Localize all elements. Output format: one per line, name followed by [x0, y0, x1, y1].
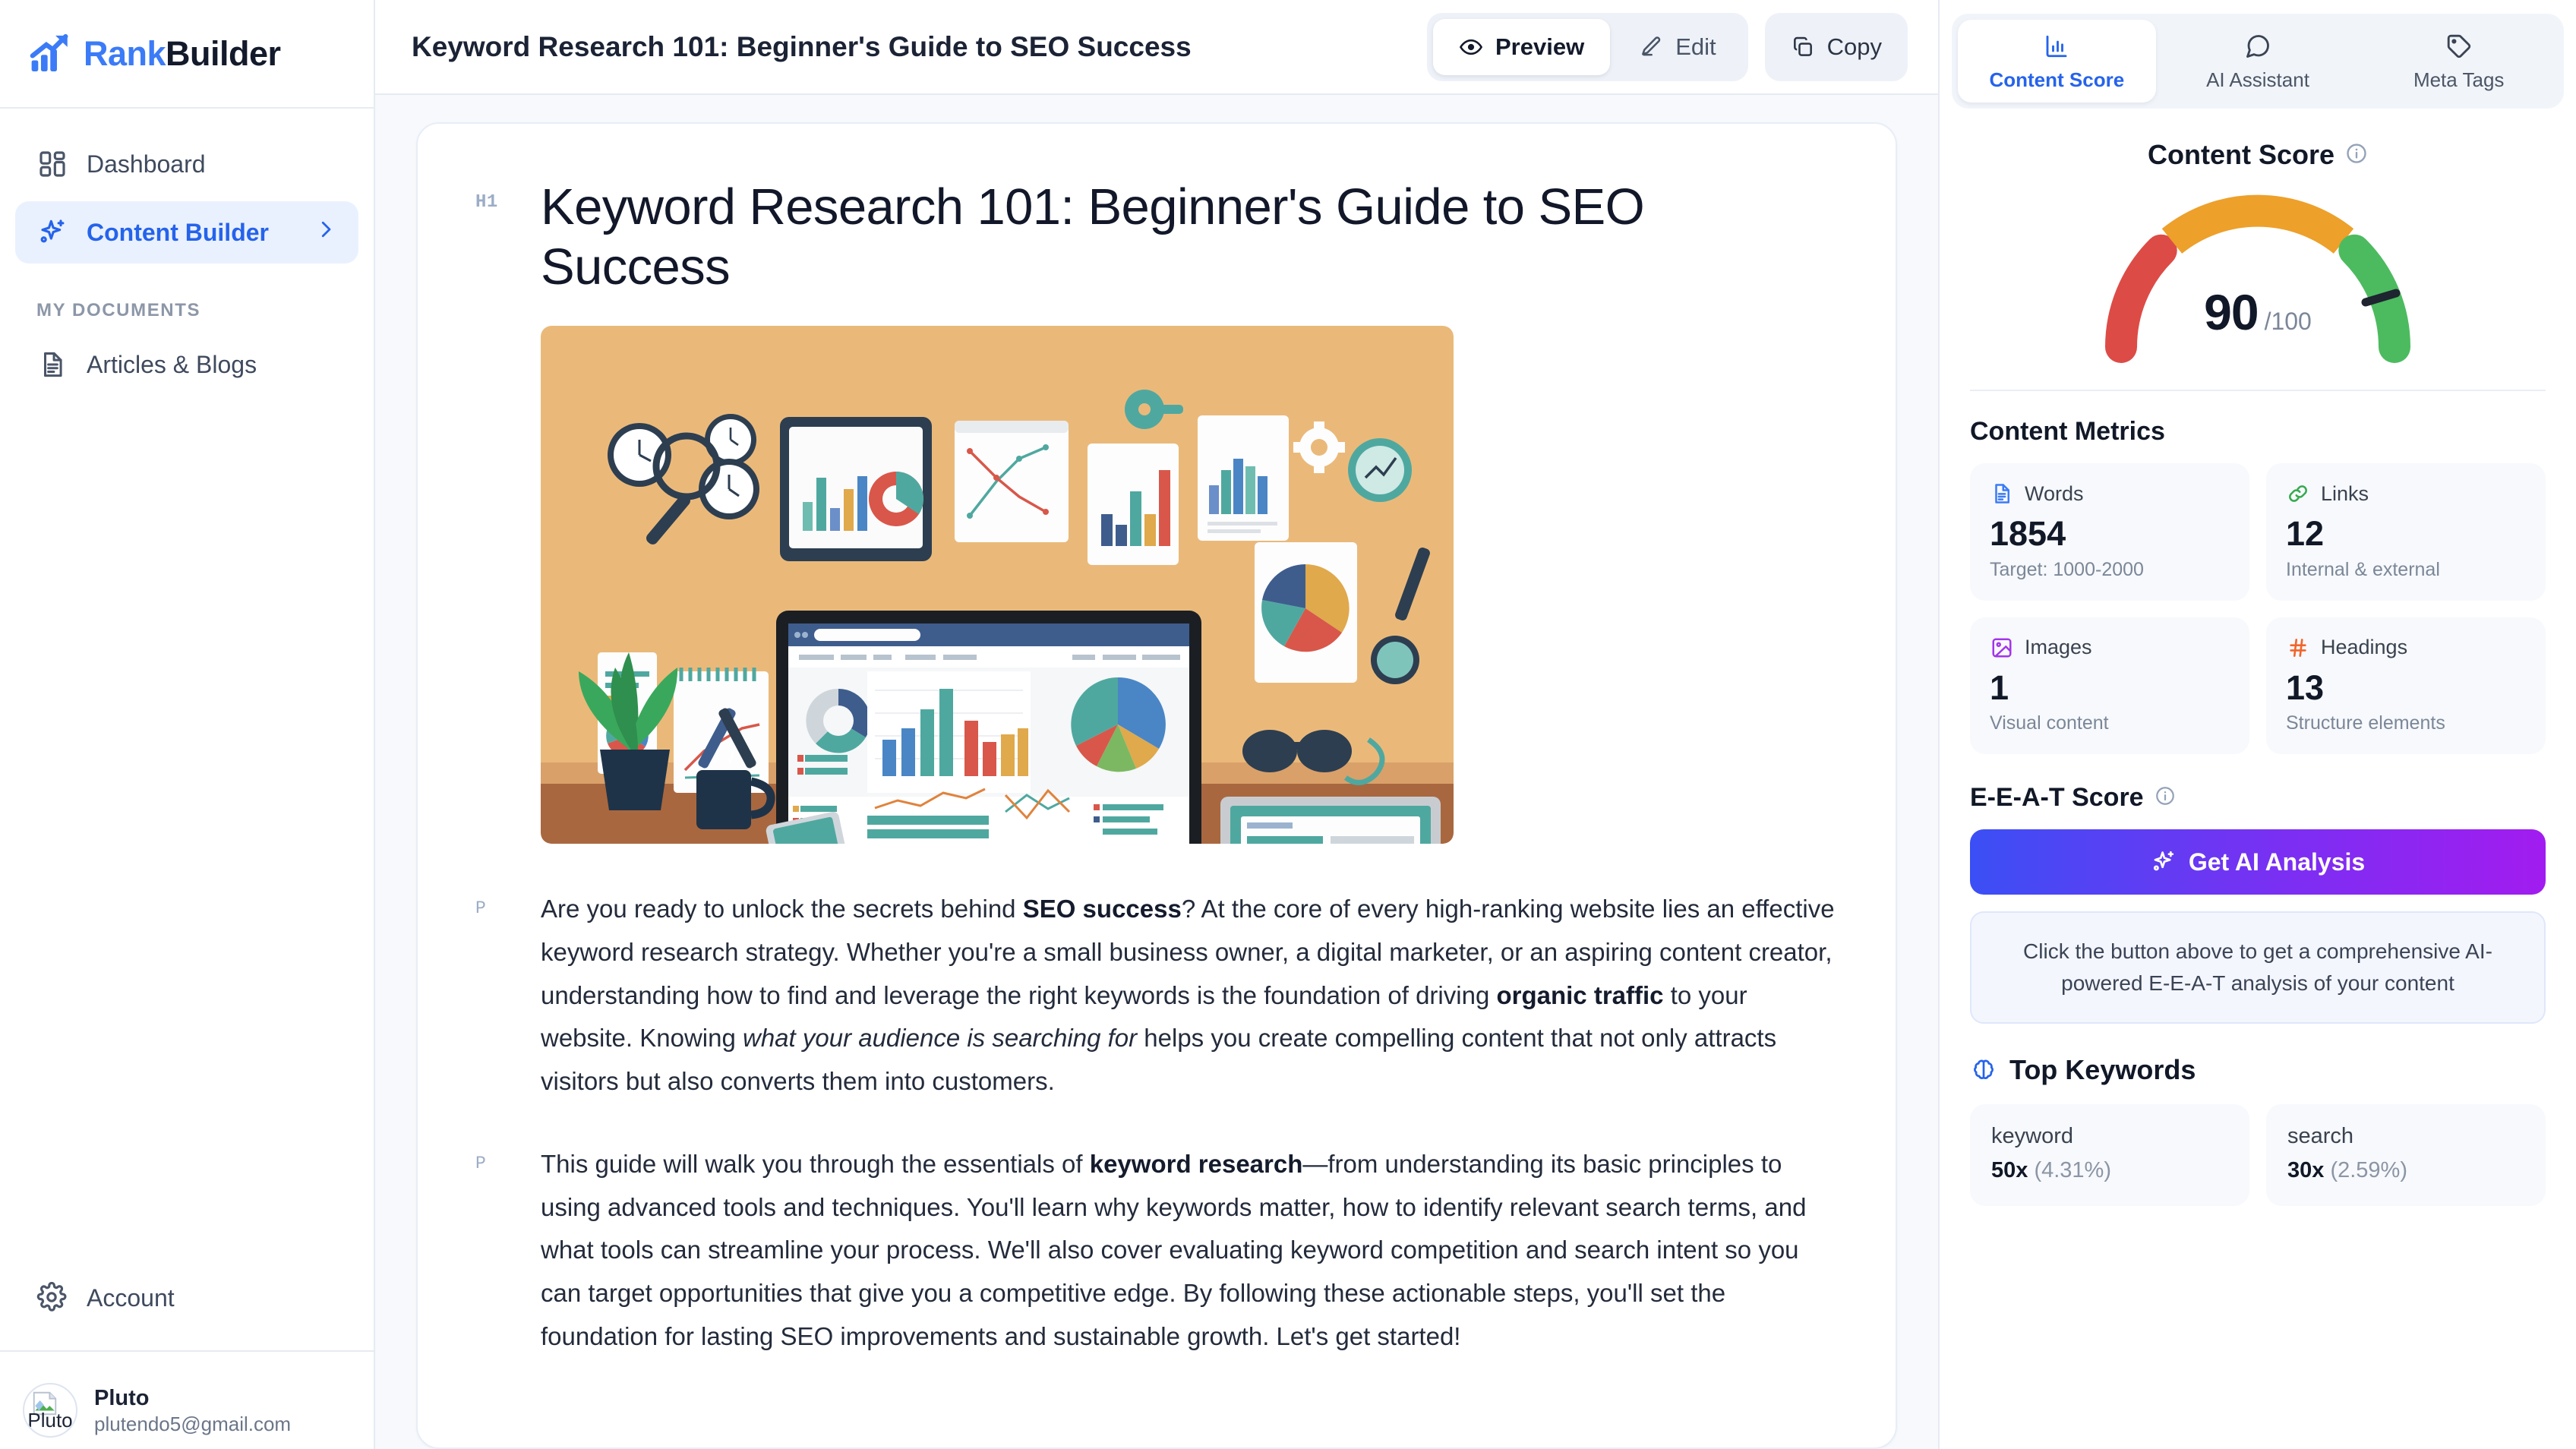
hero-illustration: [541, 326, 1454, 844]
tab-label: Content Score: [1989, 68, 2124, 92]
tag-icon: [2445, 32, 2473, 61]
metric-card-words: Words 1854 Target: 1000-2000: [1970, 463, 2249, 601]
sidebar-item-label: Account: [87, 1284, 175, 1312]
brand-name: RankBuilder: [84, 34, 281, 74]
copy-icon: [1791, 35, 1815, 59]
toolbar-actions: Preview Edit: [1427, 13, 1908, 81]
content-score-title: Content Score: [2148, 139, 2334, 171]
tab-content-score[interactable]: Content Score: [1958, 20, 2156, 103]
eye-icon: [1459, 35, 1483, 59]
block-image[interactable]: [541, 326, 1838, 844]
analysis-panel: Content Score AI Assistant Meta Tags: [1938, 0, 2576, 1449]
hash-icon: [2286, 636, 2310, 660]
copy-button-label: Copy: [1827, 33, 1882, 61]
metric-value: 12: [2286, 515, 2526, 553]
block-heading[interactable]: H1 Keyword Research 101: Beginner's Guid…: [475, 177, 1838, 883]
keyword-count: 30x: [2287, 1158, 2324, 1182]
pencil-icon: [1639, 35, 1663, 59]
tab-label: AI Assistant: [2206, 68, 2309, 92]
bar-chart-icon: [2042, 32, 2071, 61]
keyword-card: search 30x (2.59%): [2266, 1104, 2546, 1206]
sidebar-item-label: Articles & Blogs: [87, 351, 257, 379]
document-canvas: H1 Keyword Research 101: Beginner's Guid…: [375, 95, 1938, 1449]
metric-value: 1: [1990, 669, 2230, 707]
gear-icon: [36, 1282, 68, 1314]
sidebar-item-dashboard[interactable]: Dashboard: [15, 133, 358, 195]
keyword-term: keyword: [1991, 1124, 2228, 1149]
preview-button[interactable]: Preview: [1433, 19, 1610, 75]
sidebar-item-label: Content Builder: [87, 219, 269, 247]
brand-name-rank: Rank: [84, 34, 166, 73]
brand-name-builder: Builder: [166, 34, 281, 73]
metric-label: Headings: [2321, 636, 2407, 659]
brand-header[interactable]: RankBuilder: [0, 0, 374, 109]
sidebar-item-content-builder[interactable]: Content Builder: [15, 201, 358, 264]
edit-button-label: Edit: [1675, 33, 1716, 61]
metric-value: 1854: [1990, 515, 2230, 553]
keyword-card: keyword 50x (4.31%): [1970, 1104, 2249, 1206]
keyword-stat: 50x (4.31%): [1991, 1158, 2228, 1183]
metric-value: 13: [2286, 669, 2526, 707]
tab-ai-assistant[interactable]: AI Assistant: [2159, 20, 2357, 103]
content-metrics-grid: Words 1854 Target: 1000-2000 Links: [1970, 463, 2546, 754]
top-keywords-header: Top Keywords: [1970, 1054, 2546, 1086]
info-icon[interactable]: [2345, 142, 2368, 169]
document-card[interactable]: H1 Keyword Research 101: Beginner's Guid…: [416, 122, 1897, 1449]
sparkle-wand-icon: [36, 216, 68, 248]
panel-body: Content Score 90: [1940, 109, 2576, 1449]
content-score-header: Content Score: [1970, 139, 2546, 171]
sidebar-spacer: [0, 402, 374, 1267]
gauge-segment-average: [2172, 211, 2344, 241]
block-tag-p: P: [475, 1143, 541, 1173]
metric-card-images: Images 1 Visual content: [1970, 617, 2249, 755]
editor-toolbar: Keyword Research 101: Beginner's Guide t…: [375, 0, 1938, 95]
metric-sublabel: Internal & external: [2286, 559, 2526, 581]
growth-arrow-icon: [29, 32, 73, 76]
sidebar-section-label: MY DOCUMENTS: [15, 270, 358, 333]
eeat-hint-text: Click the button above to get a comprehe…: [1970, 911, 2546, 1024]
block-tag-p: P: [475, 888, 541, 918]
gauge-value-number: 90: [2204, 283, 2258, 341]
copy-button[interactable]: Copy: [1765, 13, 1908, 81]
user-profile[interactable]: Pluto Pluto plutendo5@gmail.com: [0, 1350, 374, 1449]
user-name: Pluto: [94, 1384, 291, 1412]
block-paragraph[interactable]: P This guide will walk you through the e…: [475, 1143, 1838, 1394]
page-title: Keyword Research 101: Beginner's Guide t…: [412, 31, 1192, 63]
avatar-alt-text: Pluto: [27, 1410, 72, 1436]
get-ai-analysis-button[interactable]: Get AI Analysis: [1970, 829, 2546, 895]
preview-button-label: Preview: [1495, 33, 1584, 61]
link-icon: [2286, 481, 2310, 506]
chat-bubble-icon: [2243, 32, 2272, 61]
content-score-gauge: 90 /100: [1970, 188, 2546, 364]
document-paragraph: Are you ready to unlock the secrets behi…: [541, 888, 1838, 1103]
sidebar-item-articles-blogs[interactable]: Articles & Blogs: [15, 333, 358, 396]
sidebar: RankBuilder Dashboard: [0, 0, 375, 1449]
eeat-title: E-E-A-T Score: [1970, 783, 2144, 813]
block-tag-h1: H1: [475, 177, 541, 213]
metric-sublabel: Structure elements: [2286, 712, 2526, 734]
user-email: plutendo5@gmail.com: [94, 1412, 291, 1437]
avatar: Pluto: [23, 1383, 77, 1438]
metric-card-links: Links 12 Internal & external: [2266, 463, 2546, 601]
editor-main: Keyword Research 101: Beginner's Guide t…: [375, 0, 1938, 1449]
edit-button[interactable]: Edit: [1613, 19, 1741, 75]
panel-tabs: Content Score AI Assistant Meta Tags: [1952, 14, 2564, 109]
tab-label: Meta Tags: [2413, 68, 2504, 92]
tab-meta-tags[interactable]: Meta Tags: [2360, 20, 2558, 103]
sidebar-item-account[interactable]: Account: [15, 1267, 358, 1329]
metric-sublabel: Target: 1000-2000: [1990, 559, 2230, 581]
gauge-value-max: /100: [2265, 308, 2312, 336]
sparkle-wand-icon: [2151, 849, 2177, 875]
keyword-percent: (4.31%): [2034, 1158, 2111, 1182]
get-ai-analysis-label: Get AI Analysis: [2189, 848, 2365, 876]
info-icon[interactable]: [2155, 785, 2176, 810]
image-icon: [1990, 636, 2014, 660]
document-paragraph: This guide will walk you through the ess…: [541, 1143, 1838, 1359]
top-keywords-title: Top Keywords: [2009, 1054, 2196, 1086]
metric-label: Words: [2025, 482, 2084, 506]
keyword-term: search: [2287, 1124, 2524, 1149]
block-paragraph[interactable]: P Are you ready to unlock the secrets be…: [475, 888, 1838, 1138]
document-h1: Keyword Research 101: Beginner's Guide t…: [541, 177, 1838, 297]
sidebar-item-label: Dashboard: [87, 150, 206, 178]
gauge-value: 90 /100: [2098, 283, 2417, 341]
keyword-count: 50x: [1991, 1158, 2028, 1182]
document-lines-icon: [36, 349, 68, 380]
top-keywords-grid: keyword 50x (4.31%) search 30x (2.59%): [1970, 1104, 2546, 1206]
view-mode-segmented-control: Preview Edit: [1427, 13, 1748, 81]
keyword-percent: (2.59%): [2330, 1158, 2407, 1182]
metric-label: Images: [2025, 636, 2092, 659]
keyword-stat: 30x (2.59%): [2287, 1158, 2524, 1183]
sidebar-nav: Dashboard Content Builder MY DOCUMENTS: [0, 109, 374, 402]
app-root: RankBuilder Dashboard: [0, 0, 2576, 1449]
grid-dashboard-icon: [36, 148, 68, 180]
divider: [1970, 390, 2546, 391]
metric-label: Links: [2321, 482, 2369, 506]
content-metrics-title: Content Metrics: [1970, 417, 2546, 447]
brain-icon: [1970, 1056, 1997, 1084]
metric-sublabel: Visual content: [1990, 712, 2230, 734]
metric-card-headings: Headings 13 Structure elements: [2266, 617, 2546, 755]
chevron-right-icon: [314, 218, 337, 247]
eeat-header: E-E-A-T Score: [1970, 783, 2546, 813]
document-icon: [1990, 481, 2014, 506]
